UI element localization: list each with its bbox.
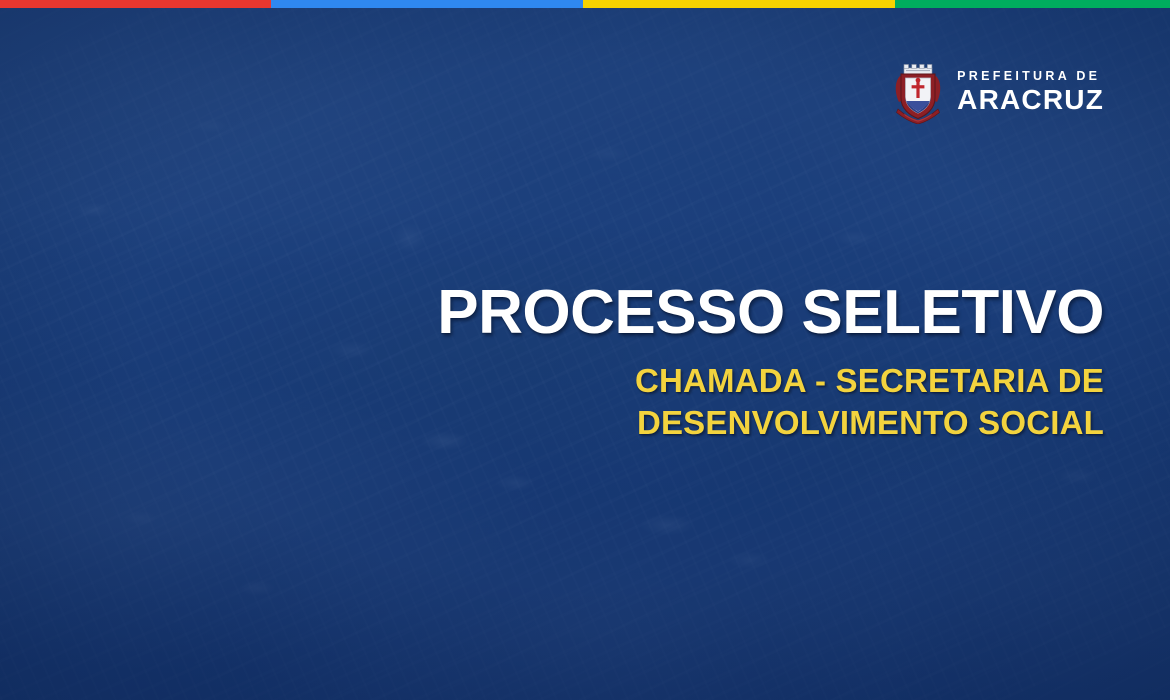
page-subtitle: CHAMADA - SECRETARIA DE DESENVOLVIMENTO … bbox=[384, 360, 1104, 444]
color-bar-segment-blue bbox=[271, 0, 582, 8]
prefeitura-logo: PREFEITURA DE ARACRUZ bbox=[892, 60, 1104, 124]
color-bar-segment-green bbox=[895, 0, 1170, 8]
brazil-flag-color-bar bbox=[0, 0, 1170, 8]
page-title: PROCESSO SELETIVO bbox=[384, 282, 1104, 344]
announcement-banner: PREFEITURA DE ARACRUZ PROCESSO SELETIVO … bbox=[0, 0, 1170, 700]
brand-text-block: PREFEITURA DE ARACRUZ bbox=[957, 70, 1104, 115]
brand-prefix-label: PREFEITURA DE bbox=[957, 70, 1100, 83]
headline-block: PROCESSO SELETIVO CHAMADA - SECRETARIA D… bbox=[384, 282, 1104, 444]
subtitle-line-2: DESENVOLVIMENTO SOCIAL bbox=[384, 402, 1104, 444]
subtitle-line-1: CHAMADA - SECRETARIA DE bbox=[384, 360, 1104, 402]
coat-of-arms-icon bbox=[892, 60, 944, 124]
brand-city-name: ARACRUZ bbox=[957, 86, 1104, 114]
color-bar-segment-yellow bbox=[583, 0, 895, 8]
color-bar-segment-red bbox=[0, 0, 271, 8]
